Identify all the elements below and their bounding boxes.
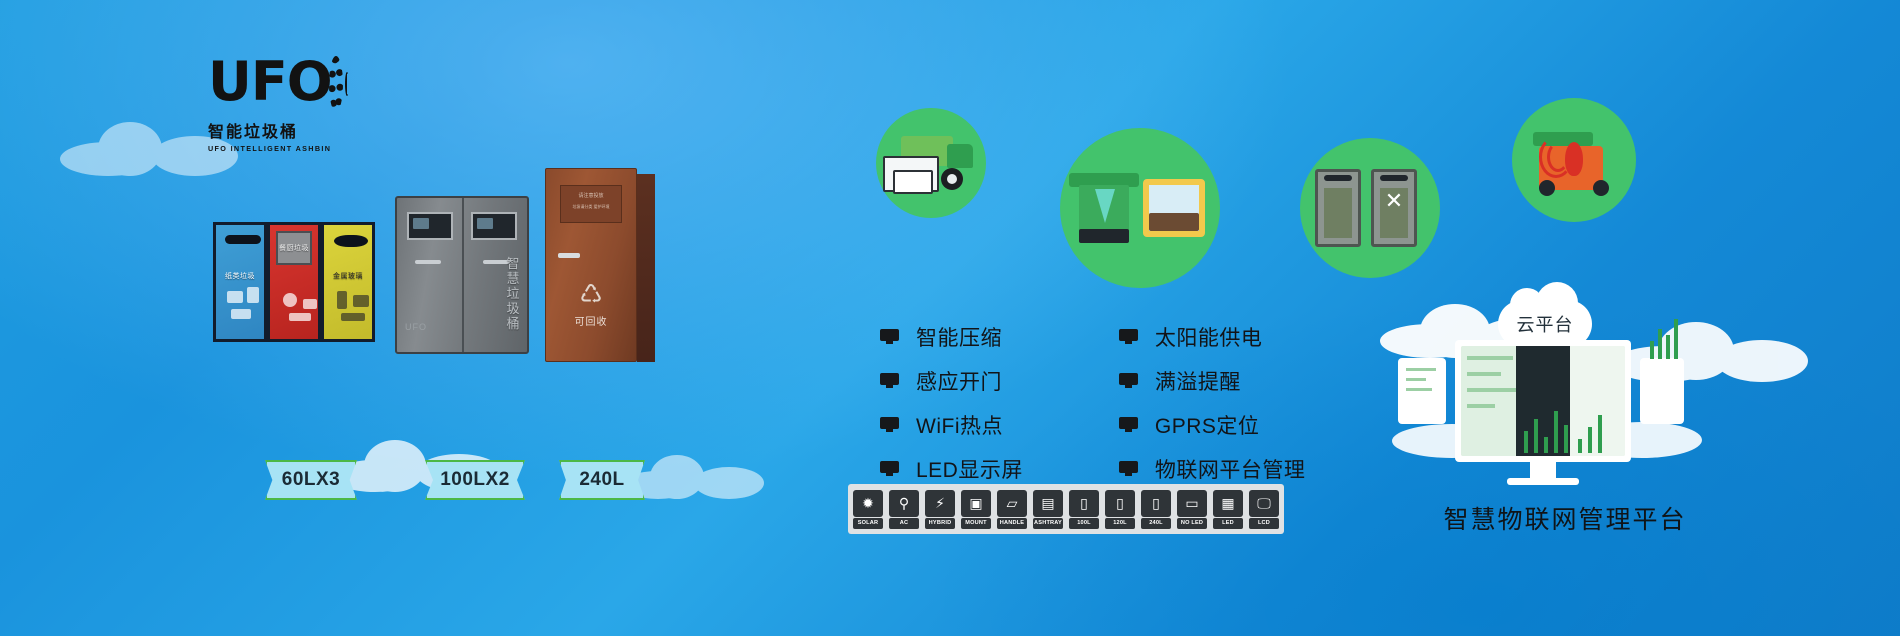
bin-cell-label: 纸类垃圾 — [216, 271, 264, 281]
bin-cell-graphic — [277, 285, 311, 333]
circle-collection-truck — [876, 108, 986, 218]
capacity-ribbon-60lx3: 60LX3 — [265, 460, 357, 500]
brown-bin: 请注意投放 垃圾请分类 爱护环境 ♺ 可回收 — [545, 168, 637, 362]
bin-display: 请注意投放 垃圾请分类 爱护环境 — [560, 185, 622, 223]
bin-cell-label: 金属玻璃 — [324, 271, 372, 281]
feature-label: 太阳能供电 — [1155, 322, 1263, 352]
solar-glyph: ✹ — [853, 490, 883, 517]
ribbon-label: 100LX2 — [440, 469, 510, 491]
platform-title: 智慧物联网管理平台 — [1430, 500, 1700, 536]
ac-label: AC — [889, 518, 919, 529]
bin-handle — [558, 253, 580, 258]
lcd-icon[interactable]: 🖵 LCD — [1249, 490, 1279, 529]
monitor-icon — [1119, 461, 1138, 477]
tablet-device-left — [1398, 358, 1446, 424]
deposit-slot — [334, 235, 368, 247]
bin-body: 智慧垃圾桶 UFO — [395, 196, 529, 354]
fire-alarm-illustration — [1531, 124, 1617, 196]
bin-body: 请注意投放 垃圾请分类 爱护环境 ♺ 可回收 — [545, 168, 637, 362]
garbage-truck-illustration — [883, 130, 979, 196]
bin-brand-mark: UFO — [405, 322, 427, 332]
no-led-label: NO LED — [1177, 518, 1207, 529]
ac-glyph: ⚲ — [889, 490, 919, 517]
deposit-slot — [225, 235, 261, 244]
bin-side-panel — [637, 174, 655, 362]
feature-column-right: 太阳能供电 满溢提醒 GPRS定位 物联网平台管理 — [1119, 322, 1306, 484]
mount-label: MOUNT — [961, 518, 991, 529]
bin-vertical-label: 智慧垃圾桶 — [506, 256, 521, 331]
grey-twin-bin: 智慧垃圾桶 UFO — [395, 196, 529, 354]
feature-item: LED显示屏 — [880, 454, 1023, 484]
feature-item: 感应开门 — [880, 366, 1023, 396]
bin-handle-left — [415, 260, 441, 264]
ashtray-icon[interactable]: ▤ ASHTRAY — [1033, 490, 1063, 529]
solar-label: SOLAR — [853, 518, 883, 529]
bin-cell-kitchen: 餐厨垃圾 — [267, 222, 321, 342]
feature-label: GPRS定位 — [1155, 410, 1260, 440]
led-icon[interactable]: ▦ LED — [1213, 490, 1243, 529]
bin-display-line2: 垃圾请分类 爱护环境 — [569, 203, 613, 210]
capacity-240l-glyph: ▯ — [1141, 490, 1171, 517]
handle-label: HANDLE — [997, 518, 1027, 529]
sensor-bin-illustration — [1075, 173, 1133, 243]
bin-cell-graphic — [331, 285, 365, 333]
banner-stage: UFO 智能垃圾桶 UFO INTELLIGENT ASHBIN 纸类垃圾 餐厨… — [0, 0, 1900, 636]
bin-cell-metal-glass: 金属玻璃 — [321, 222, 375, 342]
capacity-ribbon-100lx2: 100LX2 — [425, 460, 525, 500]
capacity-ribbon-240l: 240L — [559, 460, 645, 500]
option-icon-strip: ✹ SOLAR ⚲ AC ⚡ HYBRID ▣ MOUNT ▱ HANDLE ▤… — [848, 484, 1284, 534]
monitor-icon — [880, 417, 899, 433]
logo-wordmark: UFO — [208, 55, 323, 117]
feature-item: WiFi热点 — [880, 410, 1023, 440]
desktop-monitor — [1455, 340, 1631, 462]
capacity-120l-glyph: ▯ — [1105, 490, 1135, 517]
bin-cell-label: 餐厨垃圾 — [270, 243, 318, 253]
ribbon-label: 60LX3 — [282, 469, 340, 491]
monitor-icon — [1119, 417, 1138, 433]
feature-label: 满溢提醒 — [1155, 366, 1241, 396]
capacity-120l-icon[interactable]: ▯ 120L — [1105, 490, 1135, 529]
ac-plug-icon[interactable]: ⚲ AC — [889, 490, 919, 529]
feature-item: 太阳能供电 — [1119, 322, 1306, 352]
lcd-label: LCD — [1249, 518, 1279, 529]
capacity-100l-label: 100L — [1069, 518, 1099, 529]
feature-item: 物联网平台管理 — [1119, 454, 1306, 484]
capacity-120l-label: 120L — [1105, 518, 1135, 529]
fill-level-illustration — [1143, 179, 1205, 237]
monitor-icon — [880, 373, 899, 389]
hybrid-label: HYBRID — [925, 518, 955, 529]
feature-item: 智能压缩 — [880, 322, 1023, 352]
bin-cell-paper: 纸类垃圾 — [213, 222, 267, 342]
circle-fill-sensor — [1060, 128, 1220, 288]
logo-chinese-name: 智能垃圾桶 — [208, 118, 323, 142]
logo-ring-icon — [329, 56, 343, 112]
feature-label: WiFi热点 — [916, 410, 1003, 440]
no-led-icon[interactable]: ▭ NO LED — [1177, 490, 1207, 529]
feature-label: 物联网平台管理 — [1155, 454, 1306, 484]
tri-bin-base — [0, 0, 162, 120]
hybrid-glyph: ⚡ — [925, 490, 955, 517]
solar-icon[interactable]: ✹ SOLAR — [853, 490, 883, 529]
cloud-platform-badge: 云平台 — [1498, 300, 1592, 348]
recycle-icon: ♺ — [546, 281, 636, 307]
circle-compaction: ✕ — [1300, 138, 1440, 278]
mount-icon[interactable]: ▣ MOUNT — [961, 490, 991, 529]
cloud-platform-label: 云平台 — [1498, 300, 1592, 348]
capacity-100l-glyph: ▯ — [1069, 490, 1099, 517]
capacity-240l-label: 240L — [1141, 518, 1171, 529]
monitor-icon — [880, 329, 899, 345]
brand-logo: UFO 智能垃圾桶 UFO INTELLIGENT ASHBIN — [208, 55, 323, 153]
feature-label: 感应开门 — [916, 366, 1002, 396]
bin-cell-graphic — [223, 285, 257, 333]
mount-glyph: ▣ — [961, 490, 991, 517]
ashtray-label: ASHTRAY — [1033, 518, 1063, 529]
monitor-stand — [1530, 462, 1556, 478]
tablet-device-right — [1640, 358, 1684, 424]
monitor-icon — [880, 461, 899, 477]
bin-display-line1: 请注意投放 — [569, 193, 613, 200]
bin-display-right — [471, 212, 517, 240]
capacity-100l-icon[interactable]: ▯ 100L — [1069, 490, 1099, 529]
logo-letters: UFO — [208, 55, 332, 109]
lcd-glyph: 🖵 — [1249, 490, 1279, 517]
ashtray-glyph: ▤ — [1033, 490, 1063, 517]
monitor-foot — [1507, 478, 1579, 485]
feature-item: 满溢提醒 — [1119, 366, 1306, 396]
bin-display-left — [407, 212, 453, 240]
bin-capacity-label: 可回收 — [546, 313, 636, 328]
feature-label: LED显示屏 — [916, 454, 1023, 484]
ribbon-label: 240L — [579, 469, 624, 491]
capacity-240l-icon[interactable]: ▯ 240L — [1141, 490, 1171, 529]
feature-item: GPRS定位 — [1119, 410, 1306, 440]
monitor-icon — [1119, 329, 1138, 345]
led-label: LED — [1213, 518, 1243, 529]
tri-color-bin: 纸类垃圾 餐厨垃圾 金属玻璃 — [213, 222, 375, 342]
feature-label: 智能压缩 — [916, 322, 1002, 352]
handle-glyph: ▱ — [997, 490, 1027, 517]
hybrid-icon[interactable]: ⚡ HYBRID — [925, 490, 955, 529]
monitor-screen — [1461, 346, 1625, 456]
monitor-icon — [1119, 373, 1138, 389]
circle-fire-alarm — [1512, 98, 1636, 222]
feature-column-left: 智能压缩 感应开门 WiFi热点 LED显示屏 — [880, 322, 1023, 484]
led-glyph: ▦ — [1213, 490, 1243, 517]
twin-bins-illustration: ✕ — [1315, 169, 1425, 247]
handle-icon[interactable]: ▱ HANDLE — [997, 490, 1027, 529]
logo-english-name: UFO INTELLIGENT ASHBIN — [208, 144, 323, 153]
no-led-glyph: ▭ — [1177, 490, 1207, 517]
feature-list: 智能压缩 感应开门 WiFi热点 LED显示屏 太阳能供电 满溢提醒 — [880, 322, 1305, 484]
